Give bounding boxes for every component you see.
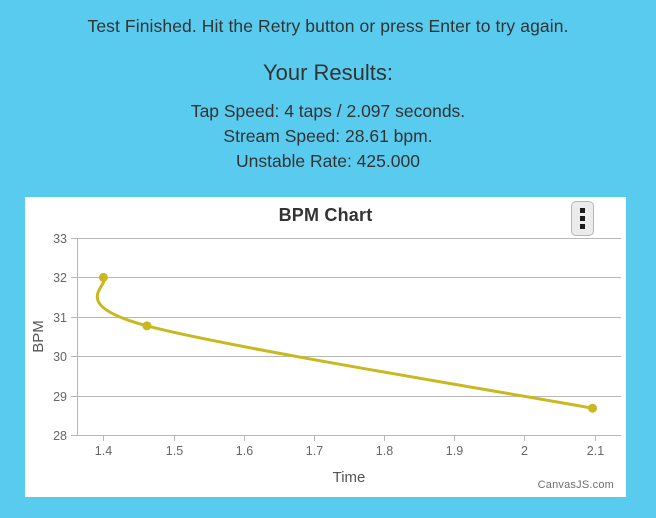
x-axis-title: Time <box>333 469 366 486</box>
results-list: Tap Speed: 4 taps / 2.097 seconds. Strea… <box>0 99 656 174</box>
x-tick-label: 1.8 <box>376 444 393 458</box>
result-unstable-rate: Unstable Rate: 425.000 <box>0 149 656 174</box>
data-point[interactable] <box>99 273 108 282</box>
y-tick-label: 30 <box>53 350 67 364</box>
data-point[interactable] <box>588 404 597 413</box>
x-tick-label: 1.5 <box>166 444 183 458</box>
data-point[interactable] <box>142 321 151 330</box>
x-tick-label: 2.1 <box>587 444 604 458</box>
result-stream-speed: Stream Speed: 28.61 bpm. <box>0 124 656 149</box>
x-tick-label: 1.6 <box>236 444 253 458</box>
x-tick-label: 1.4 <box>95 444 112 458</box>
y-tick-label: 32 <box>53 271 67 285</box>
x-tick-label: 1.7 <box>306 444 323 458</box>
status-message: Test Finished. Hit the Retry button or p… <box>0 16 656 37</box>
bpm-chart-panel: BPM Chart 2829303132331.41.51.61.71.81.9… <box>25 197 626 497</box>
y-tick-label: 31 <box>53 311 67 325</box>
x-tick-label: 2 <box>521 444 528 458</box>
canvasjs-watermark: CanvasJS.com <box>538 479 614 491</box>
results-heading: Your Results: <box>0 60 656 86</box>
x-tick-label: 1.9 <box>446 444 463 458</box>
y-tick-label: 33 <box>53 232 67 246</box>
y-axis-title: BPM <box>30 320 47 353</box>
results-page: Test Finished. Hit the Retry button or p… <box>0 0 656 518</box>
result-tap-speed: Tap Speed: 4 taps / 2.097 seconds. <box>0 99 656 124</box>
y-tick-label: 28 <box>53 429 67 443</box>
y-tick-label: 29 <box>53 390 67 404</box>
bpm-line-plot: 2829303132331.41.51.61.71.81.922.1TimeBP… <box>25 197 626 497</box>
series-line-bpm <box>97 277 592 408</box>
